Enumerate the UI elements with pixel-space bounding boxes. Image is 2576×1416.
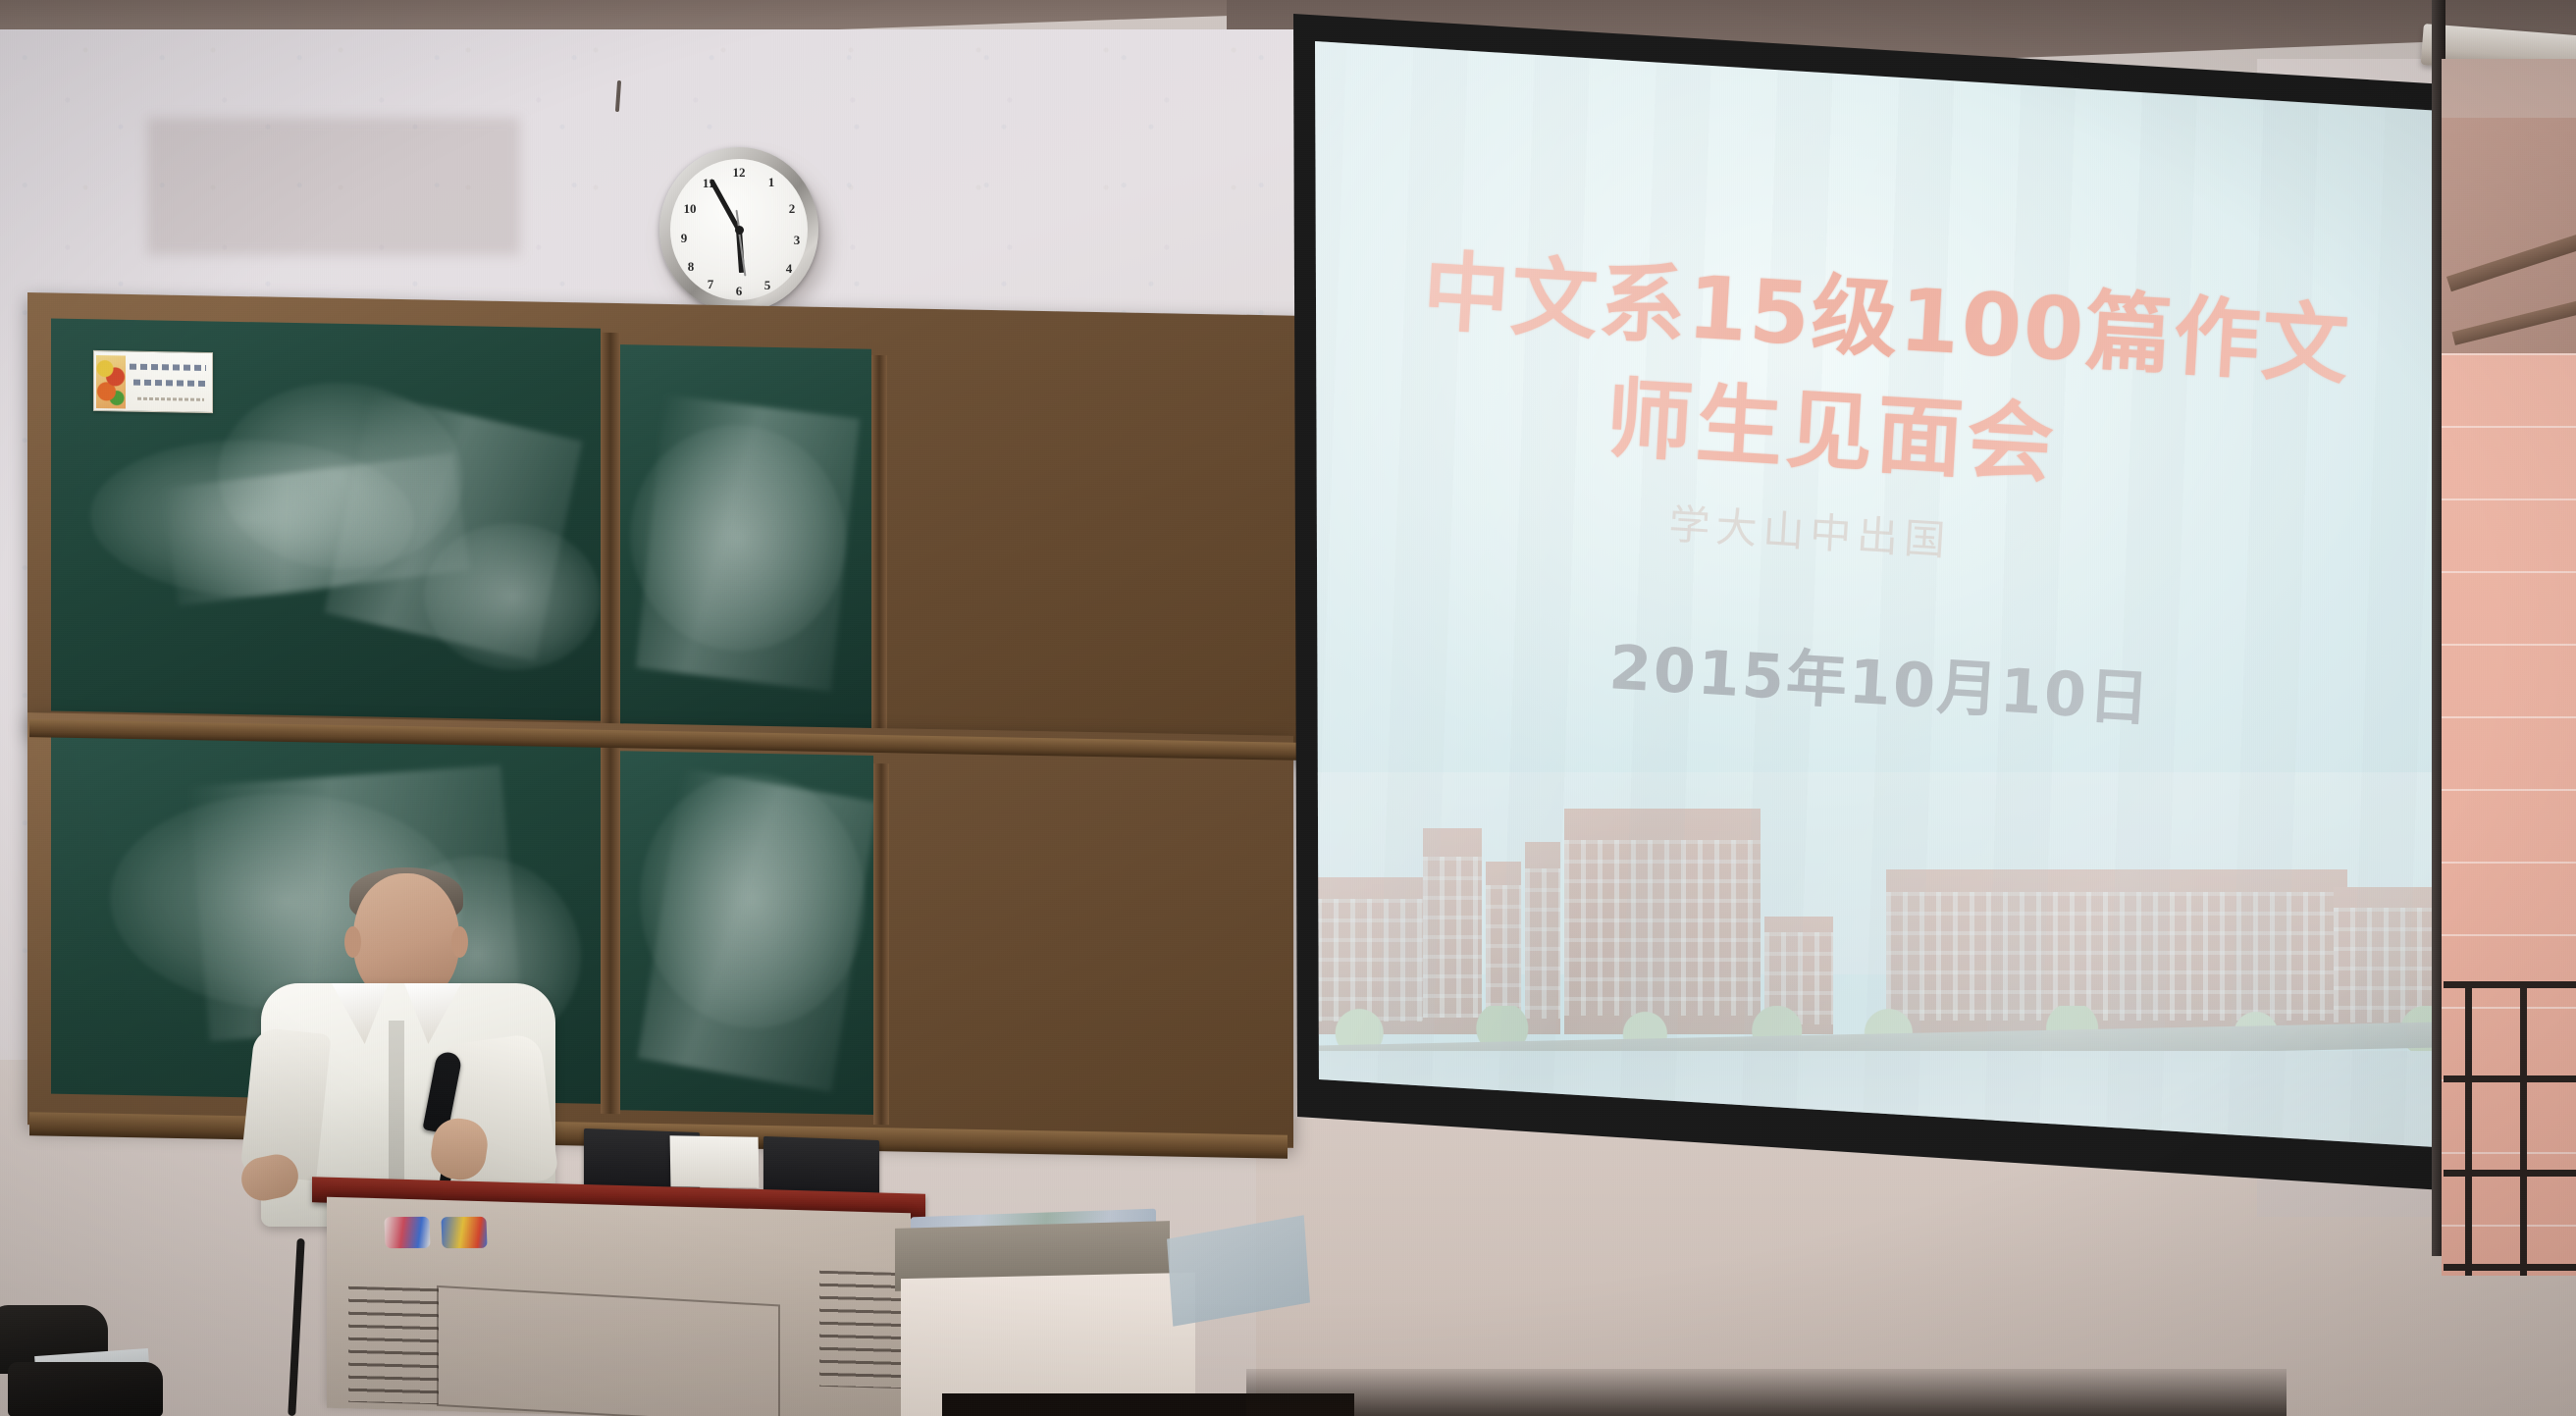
railing-bar: [2444, 981, 2576, 988]
clock-numeral-9: 9: [675, 232, 693, 245]
podium-item-right: [441, 1217, 487, 1248]
slide-date: 2015年10月10日: [1607, 617, 2396, 752]
slide-text-block: 中文系15级100篇作文 师生见面会 学大山中出国 2015年10月10日: [1293, 0, 2510, 1194]
podium-front-panel: [437, 1285, 780, 1416]
speaker-ear-right: [451, 926, 468, 958]
clock-numeral-5: 5: [759, 279, 776, 292]
chalkboard-upper-frame: [27, 292, 1308, 756]
speaker-person: [247, 873, 571, 1227]
clock-numeral-12: 12: [730, 166, 748, 180]
clock-numeral-8: 8: [682, 260, 700, 274]
railing-bar: [2444, 1075, 2576, 1082]
clock-numeral-3: 3: [788, 234, 806, 247]
poster-text-line-2: [133, 380, 206, 387]
railing-bar: [2444, 1170, 2576, 1177]
podium-paper-stack: [670, 1135, 760, 1188]
chalkboard-lower-frame: [27, 712, 1293, 1148]
foreground-shadow: [1246, 1369, 2287, 1416]
wall-clock: 12 1 2 3 4 5 6 7 8 9 10 11: [659, 147, 828, 322]
poster-text-line-3: [137, 397, 204, 401]
slide-title-line-1: 中文系15级100篇作文: [1420, 240, 2405, 400]
clock-numeral-2: 2: [783, 202, 801, 216]
projection-screen-surface: 中文系15级100篇作文 师生见面会 学大山中出国 2015年10月10日: [1293, 0, 2510, 1194]
clock-minute-hand: [710, 179, 741, 231]
projection-screen-assembly: 中文系15级100篇作文 师生见面会 学大山中出国 2015年10月10日: [1293, 0, 2569, 1243]
clock-numeral-1: 1: [762, 176, 780, 189]
railing-bar: [2444, 1264, 2576, 1271]
clock-numeral-6: 6: [730, 285, 748, 298]
chalkboard-panel-upper-mid: [620, 344, 871, 734]
classroom-photo-scene: 12 1 2 3 4 5 6 7 8 9 10 11: [0, 0, 2576, 1416]
window-railing: [2444, 981, 2576, 1276]
chalkboard-divider: [601, 745, 620, 1114]
board-poster: [93, 350, 213, 413]
poster-text-line-1: [130, 364, 206, 371]
wall-smudge: [147, 118, 520, 255]
clock-center-pin: [735, 226, 744, 235]
podium-vent-left: [348, 1286, 439, 1405]
railing-post: [2465, 981, 2472, 1276]
fruit-illustration-icon: [96, 355, 126, 409]
clock-numeral-7: 7: [702, 278, 719, 291]
classroom-chair: [0, 1305, 162, 1416]
speaker-ear-left: [344, 926, 361, 958]
railing-post: [2520, 981, 2527, 1276]
podium-monitor-right[interactable]: [763, 1136, 879, 1197]
chalkboard-divider: [873, 763, 889, 1125]
clock-face: 12 1 2 3 4 5 6 7 8 9 10 11: [670, 159, 808, 300]
clock-numeral-4: 4: [780, 262, 798, 276]
chalkboard-divider: [871, 355, 887, 744]
clock-numeral-10: 10: [681, 202, 699, 216]
chalkboard-panel-lower-mid: [620, 751, 873, 1115]
chair-seat: [8, 1362, 163, 1416]
chalkboard-divider: [601, 333, 620, 733]
podium-item-left: [384, 1217, 430, 1248]
